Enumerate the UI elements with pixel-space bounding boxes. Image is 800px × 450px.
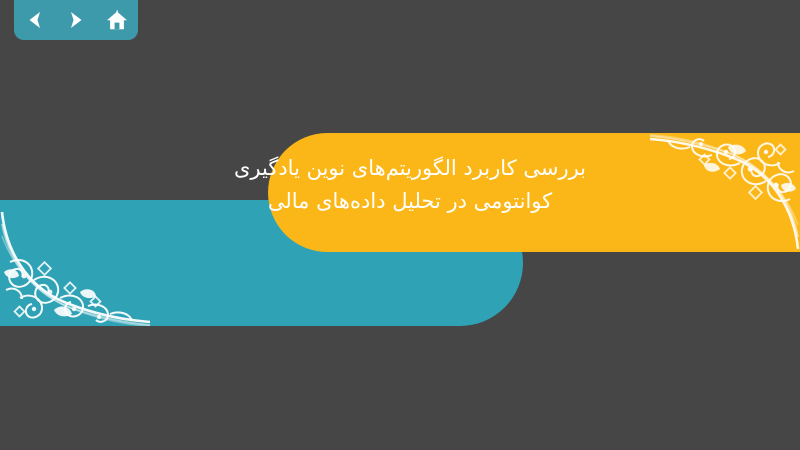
arabesque-corner-ornament: [650, 133, 800, 252]
triangle-left-icon: [24, 9, 46, 31]
forward-button[interactable]: [61, 6, 91, 34]
navigation-bar: [14, 0, 138, 40]
back-button[interactable]: [20, 6, 50, 34]
arabesque-corner-ornament: [0, 206, 150, 326]
presentation-slide: بررسی کاربرد الگوریتم‌های نوین یادگیری ک…: [0, 0, 800, 450]
title-banner: [268, 133, 800, 252]
home-button[interactable]: [102, 6, 132, 34]
triangle-right-icon: [65, 9, 87, 31]
home-icon: [105, 8, 129, 32]
